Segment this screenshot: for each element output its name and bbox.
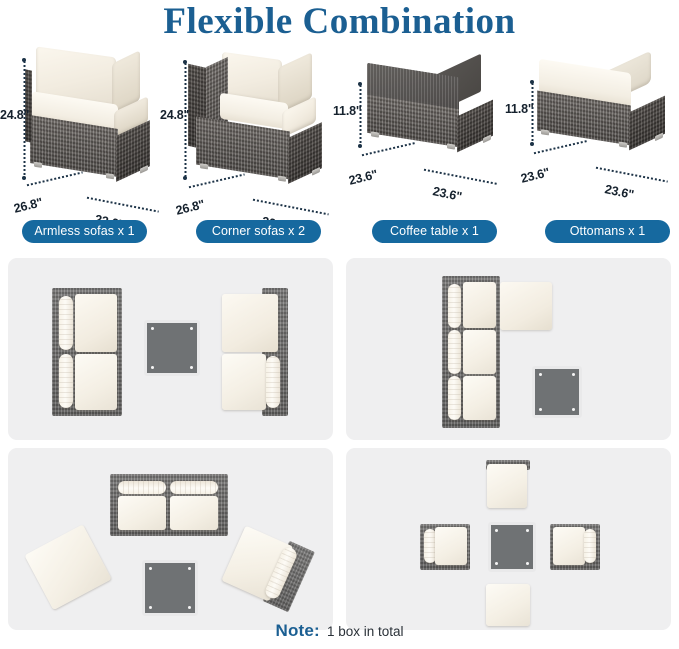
configuration-panels <box>0 258 679 633</box>
armless-depth-label: 26.8" <box>12 195 44 216</box>
corner-depth-label: 26.8" <box>174 197 206 218</box>
cross-left-corner-sofa <box>420 524 470 570</box>
corner-depth-line <box>188 173 245 189</box>
ottoman-width-line <box>595 166 668 183</box>
product-dimension-row: 24.8" 26.8" 23.6" 24.8" 26.8" 26.8" <box>0 46 679 218</box>
ottoman-base-side <box>629 96 665 151</box>
product-armless-sofa: 24.8" 26.8" 23.6" <box>0 46 170 218</box>
note-label: Note: <box>275 621 319 640</box>
ottoman-rotated-left <box>24 524 113 613</box>
table-depth-label: 23.6" <box>347 167 379 188</box>
note-row: Note:1 box in total <box>0 621 679 641</box>
right-sofa-group <box>218 288 288 416</box>
table-height-label: 11.8" <box>333 104 362 118</box>
pill-ottomans[interactable]: Ottomans x 1 <box>545 220 670 243</box>
product-label-row: Armless sofas x 1 Corner sofas x 2 Coffe… <box>0 220 679 250</box>
product-coffee-table: 11.8" 23.6" 23.6" <box>345 46 515 218</box>
coffee-table-top-view-3 <box>142 560 198 616</box>
armless-depth-line <box>26 171 83 187</box>
product-ottoman: 11.8" 23.6" 23.6" <box>515 46 679 218</box>
ottoman-width-label: 23.6" <box>604 182 636 202</box>
table-depth-line <box>361 141 416 157</box>
armless-left-edge <box>25 69 32 142</box>
cross-right-corner-sofa <box>550 524 600 570</box>
product-corner-sofa: 24.8" 26.8" 26.8" <box>170 46 345 218</box>
armless-height-label: 24.8" <box>0 108 29 122</box>
ottoman-depth-label: 23.6" <box>519 165 551 186</box>
page-title: Flexible Combination <box>0 0 679 42</box>
config-panel-2[interactable] <box>346 258 671 440</box>
armless-width-line <box>86 196 159 213</box>
ottoman-depth-line <box>533 139 588 155</box>
l-shape-vertical-run <box>442 276 500 428</box>
left-sofa-group <box>52 288 122 416</box>
pill-coffee-table[interactable]: Coffee table x 1 <box>372 220 497 243</box>
config-panel-4[interactable] <box>346 448 671 630</box>
coffee-table-top-view-1 <box>144 320 200 376</box>
ottoman-height-label: 11.8" <box>505 102 534 116</box>
config-panel-1[interactable] <box>8 258 333 440</box>
table-width-line <box>423 168 498 185</box>
sofa-rotated-right <box>219 522 315 616</box>
table-width-label: 23.6" <box>432 184 464 204</box>
pill-corner-sofas[interactable]: Corner sofas x 2 <box>196 220 321 243</box>
coffee-table-side <box>457 100 493 153</box>
coffee-table-top-view-2 <box>532 366 582 418</box>
cross-top-piece <box>486 460 530 510</box>
note-text: 1 box in total <box>327 624 404 639</box>
coffee-table-top-view-4 <box>488 522 536 572</box>
l-shape-corner-arm <box>500 276 558 332</box>
config-panel-3[interactable] <box>8 448 333 630</box>
corner-height-label: 24.8" <box>160 108 189 122</box>
pill-armless-sofas[interactable]: Armless sofas x 1 <box>22 220 147 243</box>
loveseat <box>110 474 228 536</box>
